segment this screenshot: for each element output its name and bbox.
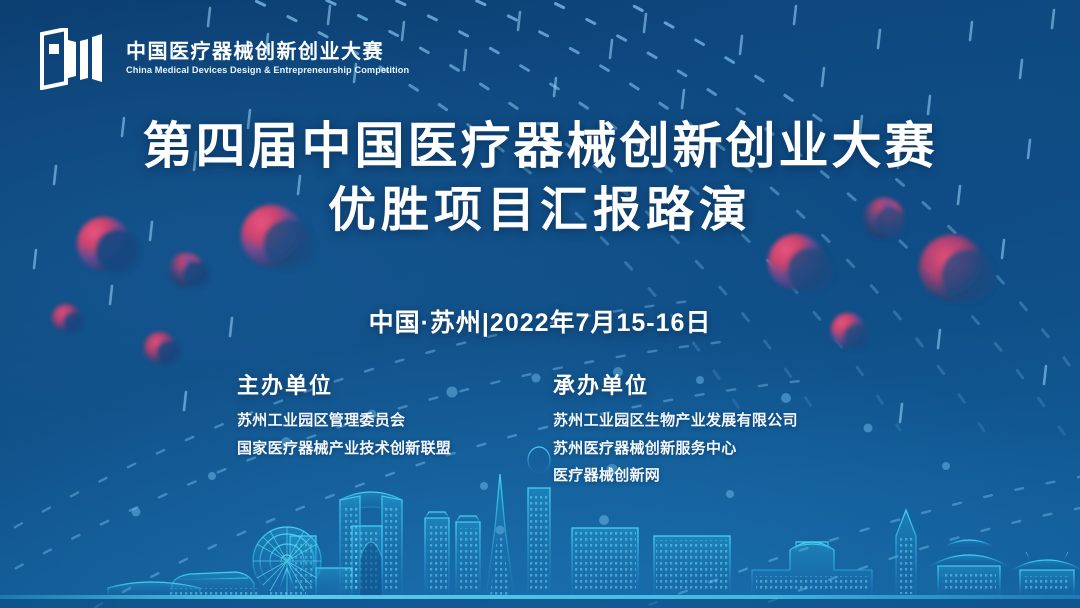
ground-line xyxy=(0,595,1080,599)
grid-block-tower-b xyxy=(654,536,730,596)
poster-canvas: 中国医疗器械创新创业大赛 China Medical Devices Desig… xyxy=(0,0,1080,608)
event-date-location: 中国·苏州|2022年7月15-16日 xyxy=(0,303,1080,339)
low-pavilion xyxy=(168,572,260,598)
brand-name-en: China Medical Devices Design & Entrepren… xyxy=(126,66,409,76)
organizer-role-host: 主办单位 xyxy=(237,368,537,400)
organizer-entity: 苏州医疗器械创新服务中心 xyxy=(553,438,853,461)
page-title-line-1: 第四届中国医疗器械创新创业大赛 xyxy=(0,118,1080,174)
brand-text: 中国医疗器械创新创业大赛 China Medical Devices Desig… xyxy=(126,41,418,76)
organizer-block-host: 主办单位 苏州工业园区管理委员会 国家医疗器械产业技术创新联盟 xyxy=(227,368,537,493)
page-title-line-2: 优胜项目汇报路演 xyxy=(0,182,1080,241)
orb-8 xyxy=(919,235,995,303)
organizer-role-co-host: 承办单位 xyxy=(553,368,853,400)
title-block: 第四届中国医疗器械创新创业大赛 优胜项目汇报路演 xyxy=(0,118,1080,241)
pagoda xyxy=(894,492,918,596)
open-door-logo-icon xyxy=(36,28,110,90)
brand-name-cn: 中国医疗器械创新创业大赛 xyxy=(126,41,418,63)
temple-roof-b xyxy=(1012,540,1080,596)
orb-6 xyxy=(768,234,833,293)
organizers-section: 主办单位 苏州工业园区管理委员会 国家医疗器械产业技术创新联盟 承办单位 苏州工… xyxy=(0,368,1080,493)
organizer-entity: 苏州工业园区生物产业发展有限公司 xyxy=(553,410,853,433)
twin-low-towers xyxy=(290,526,382,596)
gate-of-the-orient xyxy=(340,492,402,596)
grid-block-tower-a xyxy=(572,528,638,596)
organizer-entity: 国家医疗器械产业技术创新联盟 xyxy=(237,438,537,461)
bridge xyxy=(108,581,200,596)
organizer-entity: 苏州工业园区管理委员会 xyxy=(237,410,537,433)
organizer-entity: 医疗器械创新网 xyxy=(553,465,853,488)
ferris-wheel xyxy=(253,527,321,598)
temple-roof-a xyxy=(930,526,1008,596)
exhibition-hall xyxy=(752,542,872,596)
twin-antenna-towers xyxy=(425,484,480,596)
organizer-block-co-host: 承办单位 苏州工业园区生物产业发展有限公司 苏州医疗器械创新服务中心 医疗器械创… xyxy=(537,368,853,493)
brand-lockup: 中国医疗器械创新创业大赛 China Medical Devices Desig… xyxy=(36,28,418,90)
orb-3 xyxy=(169,253,210,288)
